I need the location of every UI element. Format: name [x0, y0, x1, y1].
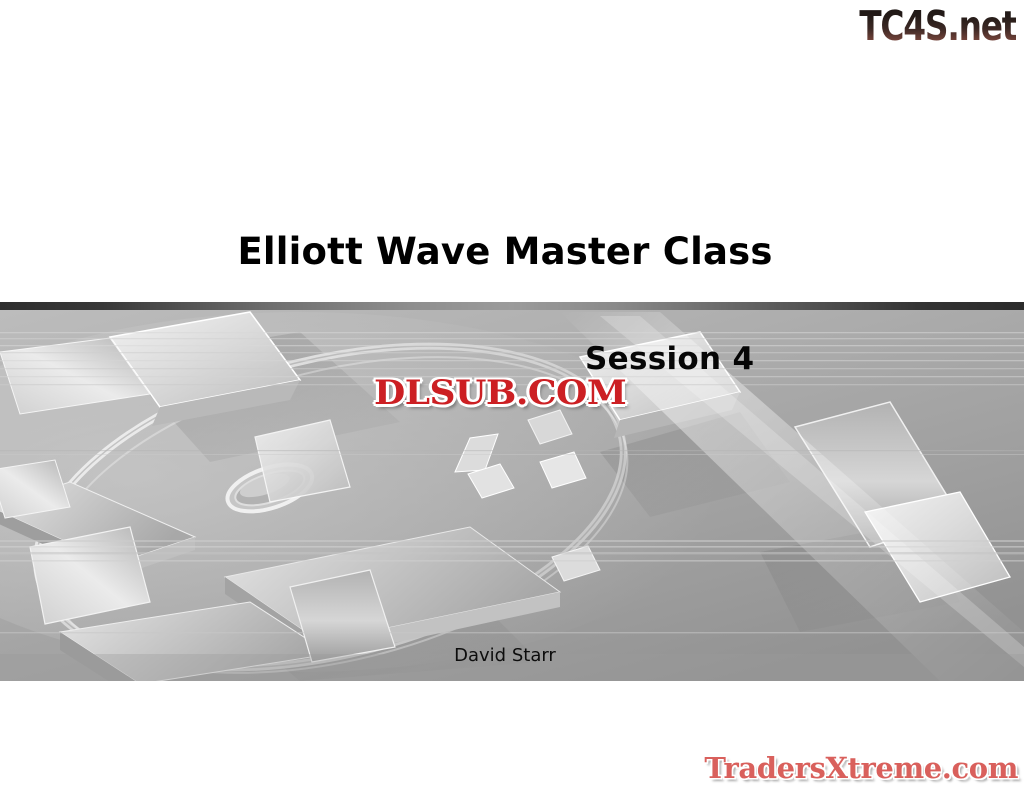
- presenter-name: David Starr: [0, 645, 1024, 666]
- dlsub-watermark: DLSUB.COM: [374, 373, 626, 413]
- banner-artwork: [0, 302, 1024, 681]
- presentation-slide: TC4S.net Elliott Wave Master Class: [0, 0, 1024, 791]
- tradersxtreme-logo: TradersXtreme.com: [704, 751, 1018, 785]
- session-label: Session 4: [585, 341, 754, 377]
- banner-graphic: [0, 302, 1024, 681]
- page-title: Elliott Wave Master Class: [0, 230, 1024, 273]
- tc4s-logo: TC4S.net: [859, 2, 1016, 50]
